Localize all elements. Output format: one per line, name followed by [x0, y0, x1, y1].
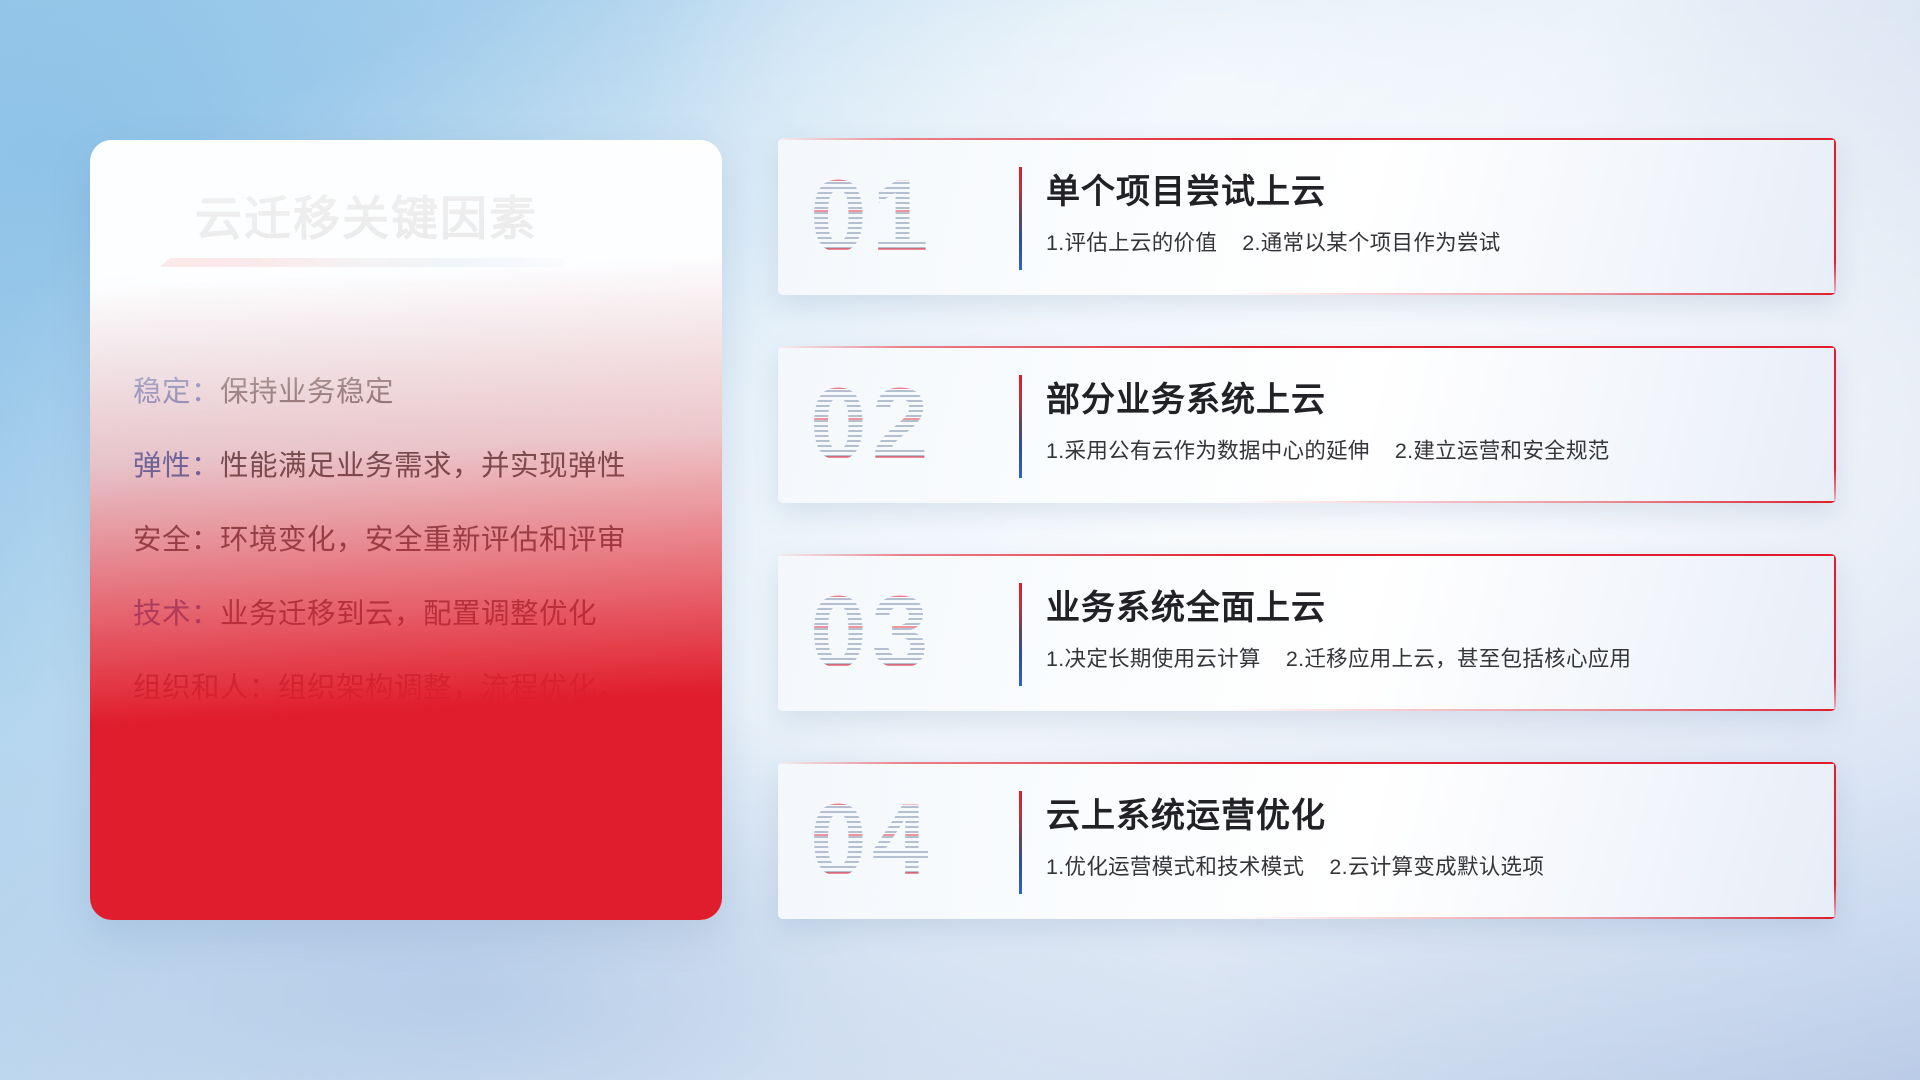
card-bottom-accent-line [1222, 917, 1836, 919]
card-title: 单个项目尝试上云 [1046, 164, 1326, 213]
card-right-accent-line [1834, 762, 1836, 919]
stage-number-red-scanlines: 03 [810, 568, 1000, 696]
card-vertical-divider [1019, 583, 1022, 686]
factor-text: 环境变化，安全重新评估和评审 [220, 524, 626, 556]
stage-number-red-scanlines: 01 [810, 152, 1000, 280]
factor-list: 稳定：保持业务稳定弹性：性能满足业务需求，并实现弹性安全：环境变化，安全重新评估… [133, 355, 696, 799]
card-description: 1.决定长期使用云计算 2.迁移应用上云，甚至包括核心应用 [1046, 642, 1631, 673]
stage-number-red-scanlines: 04 [810, 776, 1000, 904]
key-factors-panel: 云迁移关键因素 稳定：保持业务稳定弹性：性能满足业务需求，并实现弹性安全：环境变… [90, 140, 722, 920]
factor-row: 人员技能培训 [133, 725, 696, 799]
card-top-accent-line [778, 346, 1836, 348]
card-bottom-accent-line [1222, 709, 1836, 711]
card-description: 1.优化运营模式和技术模式 2.云计算变成默认选项 [1046, 850, 1544, 881]
factor-text: 性能满足业务需求，并实现弹性 [220, 450, 626, 482]
stage-card[interactable]: 0101单个项目尝试上云1.评估上云的价值 2.通常以某个项目作为尝试 [778, 138, 1836, 295]
factor-text: 业务迁移到云，配置调整优化 [220, 598, 597, 630]
card-description: 1.评估上云的价值 2.通常以某个项目作为尝试 [1046, 226, 1501, 257]
card-bottom-accent-line [1222, 293, 1836, 295]
stage-card[interactable]: 0404云上系统运营优化1.优化运营模式和技术模式 2.云计算变成默认选项 [778, 762, 1836, 919]
stage-number-red-scanlines: 02 [810, 360, 1000, 488]
title-underline-rule [160, 258, 564, 267]
stage-card[interactable]: 0202部分业务系统上云1.采用公有云作为数据中心的延伸 2.建立运营和安全规范 [778, 346, 1836, 503]
factor-text: 组织架构调整，流程优化， [278, 672, 626, 704]
card-bottom-accent-line [1222, 501, 1836, 503]
factor-label: 安全： [133, 524, 220, 556]
card-right-accent-line [1834, 138, 1836, 295]
stage-card-list: 0101单个项目尝试上云1.评估上云的价值 2.通常以某个项目作为尝试0202部… [778, 138, 1836, 970]
card-vertical-divider [1019, 167, 1022, 270]
card-right-accent-line [1834, 346, 1836, 503]
factor-label: 组织和人： [133, 672, 278, 704]
factor-label: 稳定： [133, 376, 220, 408]
card-title: 云上系统运营优化 [1046, 788, 1326, 837]
factor-text: 人员技能培训 [133, 746, 307, 778]
page-title: 云迁移关键因素 [195, 180, 538, 249]
factor-label: 弹性： [133, 450, 220, 482]
card-title: 业务系统全面上云 [1046, 580, 1326, 629]
card-vertical-divider [1019, 375, 1022, 478]
factor-row: 组织和人：组织架构调整，流程优化， [133, 651, 696, 725]
card-right-accent-line [1834, 554, 1836, 711]
factor-row: 安全：环境变化，安全重新评估和评审 [133, 503, 696, 577]
card-title: 部分业务系统上云 [1046, 372, 1326, 421]
factor-row: 弹性：性能满足业务需求，并实现弹性 [133, 429, 696, 503]
factor-label: 技术： [133, 598, 220, 630]
factor-row: 稳定：保持业务稳定 [133, 355, 696, 429]
card-top-accent-line [778, 762, 1836, 764]
card-vertical-divider [1019, 791, 1022, 894]
factor-row: 技术：业务迁移到云，配置调整优化 [133, 577, 696, 651]
card-top-accent-line [778, 138, 1836, 140]
card-top-accent-line [778, 554, 1836, 556]
card-description: 1.采用公有云作为数据中心的延伸 2.建立运营和安全规范 [1046, 434, 1610, 465]
stage-card[interactable]: 0303业务系统全面上云1.决定长期使用云计算 2.迁移应用上云，甚至包括核心应… [778, 554, 1836, 711]
factor-text: 保持业务稳定 [220, 376, 394, 408]
